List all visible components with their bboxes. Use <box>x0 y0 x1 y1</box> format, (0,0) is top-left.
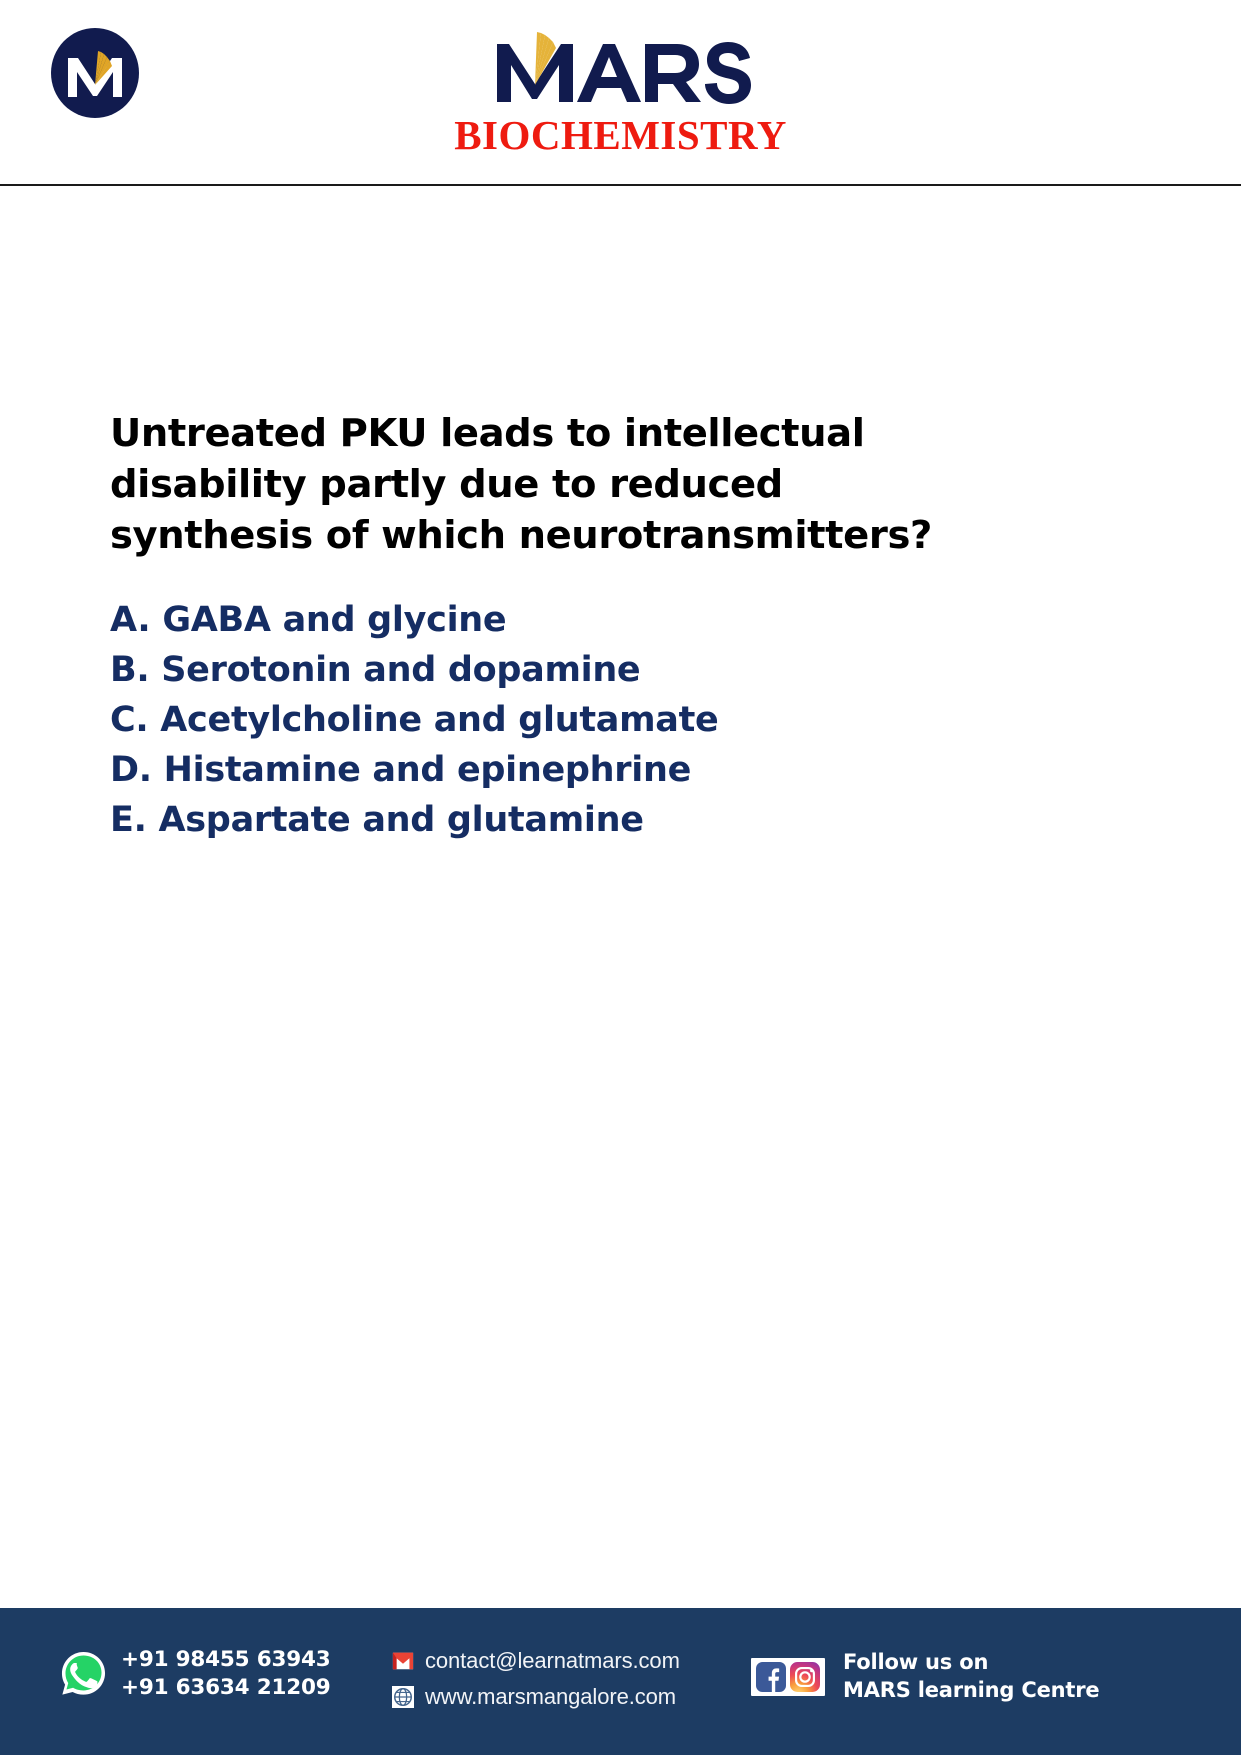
website-text: www.marsmangalore.com <box>425 1686 676 1708</box>
page-header: BIOCHEMISTRY <box>0 0 1241 186</box>
footer-contact-group: contact@learnatmars.com www.marsmangalor… <box>392 1650 680 1708</box>
option-d[interactable]: D. Histamine and epinephrine <box>110 745 1110 795</box>
option-e[interactable]: E. Aspartate and glutamine <box>110 795 1110 845</box>
option-c[interactable]: C. Acetylcholine and glutamate <box>110 695 1110 745</box>
page-footer: +91 98455 63943 +91 63634 21209 contact@… <box>0 1608 1241 1755</box>
phone-number-2[interactable]: +91 63634 21209 <box>121 1677 331 1699</box>
option-b[interactable]: B. Serotonin and dopamine <box>110 645 1110 695</box>
phone-numbers: +91 98455 63943 +91 63634 21209 <box>121 1649 331 1698</box>
options-list: A. GABA and glycine B. Serotonin and dop… <box>110 595 1110 845</box>
footer-social-group: Follow us on MARS learning Centre <box>751 1652 1099 1701</box>
gmail-icon <box>392 1650 414 1672</box>
mars-wordmark <box>491 22 751 108</box>
question-stem: Untreated PKU leads to intellectual disa… <box>110 408 950 562</box>
follow-handle: MARS learning Centre <box>843 1680 1099 1701</box>
whatsapp-icon[interactable] <box>60 1650 107 1697</box>
email-row[interactable]: contact@learnatmars.com <box>392 1650 680 1672</box>
brand-block: BIOCHEMISTRY <box>0 22 1241 156</box>
question-content: Untreated PKU leads to intellectual disa… <box>110 408 1110 845</box>
footer-phone-group: +91 98455 63943 +91 63634 21209 <box>60 1649 331 1698</box>
social-icons-chip[interactable] <box>751 1658 825 1696</box>
phone-number-1[interactable]: +91 98455 63943 <box>121 1649 331 1671</box>
website-row[interactable]: www.marsmangalore.com <box>392 1686 680 1708</box>
follow-label: Follow us on <box>843 1652 1099 1673</box>
mars-wordmark-icon <box>491 22 751 108</box>
subject-title: BIOCHEMISTRY <box>0 115 1241 156</box>
follow-text-block: Follow us on MARS learning Centre <box>843 1652 1099 1701</box>
facebook-icon[interactable] <box>756 1662 786 1692</box>
email-text: contact@learnatmars.com <box>425 1650 680 1672</box>
option-a[interactable]: A. GABA and glycine <box>110 595 1110 645</box>
instagram-icon[interactable] <box>790 1662 820 1692</box>
globe-icon <box>392 1686 414 1708</box>
